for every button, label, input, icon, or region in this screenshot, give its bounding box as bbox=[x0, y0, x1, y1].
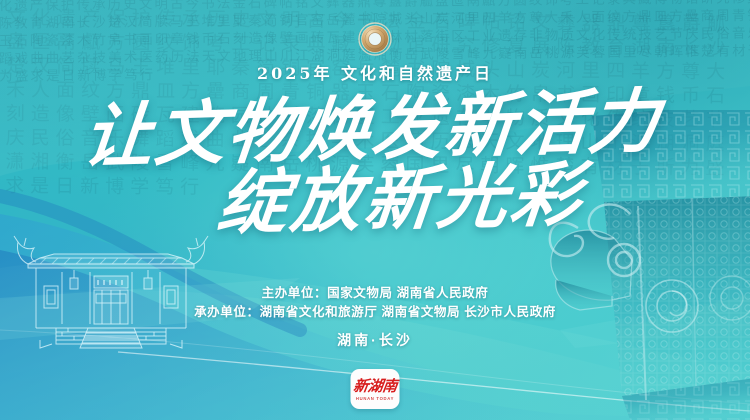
poster-canvas: 文化遗产保护传承历史文明古今书法金石碑帖铭文彝器鼎尊簋爵觚盘匜鬲甗方圆纹饰考工记… bbox=[0, 0, 750, 420]
jade-bi-disc-emblem bbox=[358, 22, 392, 56]
page-title: 让文物焕发新活力 绽放新光彩 bbox=[0, 92, 750, 236]
host-organizer-line: 主办单位：国家文物局 湖南省人民政府 bbox=[0, 284, 750, 303]
location-label: 湖南·长沙 bbox=[0, 330, 750, 350]
hunan-today-logo[interactable]: 新湖南 HUNAN TODAY bbox=[351, 369, 400, 409]
logo-chinese-text: 新湖南 bbox=[352, 378, 398, 394]
title-line-2: 绽放新光彩 bbox=[47, 153, 750, 244]
logo-english-text: HUNAN TODAY bbox=[356, 396, 394, 401]
organizer-block: 主办单位：国家文物局 湖南省人民政府 承办单位：湖南省文化和旅游厅 湖南省文物局… bbox=[0, 284, 750, 350]
co-host-organizer-line: 承办单位：湖南省文化和旅游厅 湖南省文物局 长沙市人民政府 bbox=[0, 303, 750, 322]
